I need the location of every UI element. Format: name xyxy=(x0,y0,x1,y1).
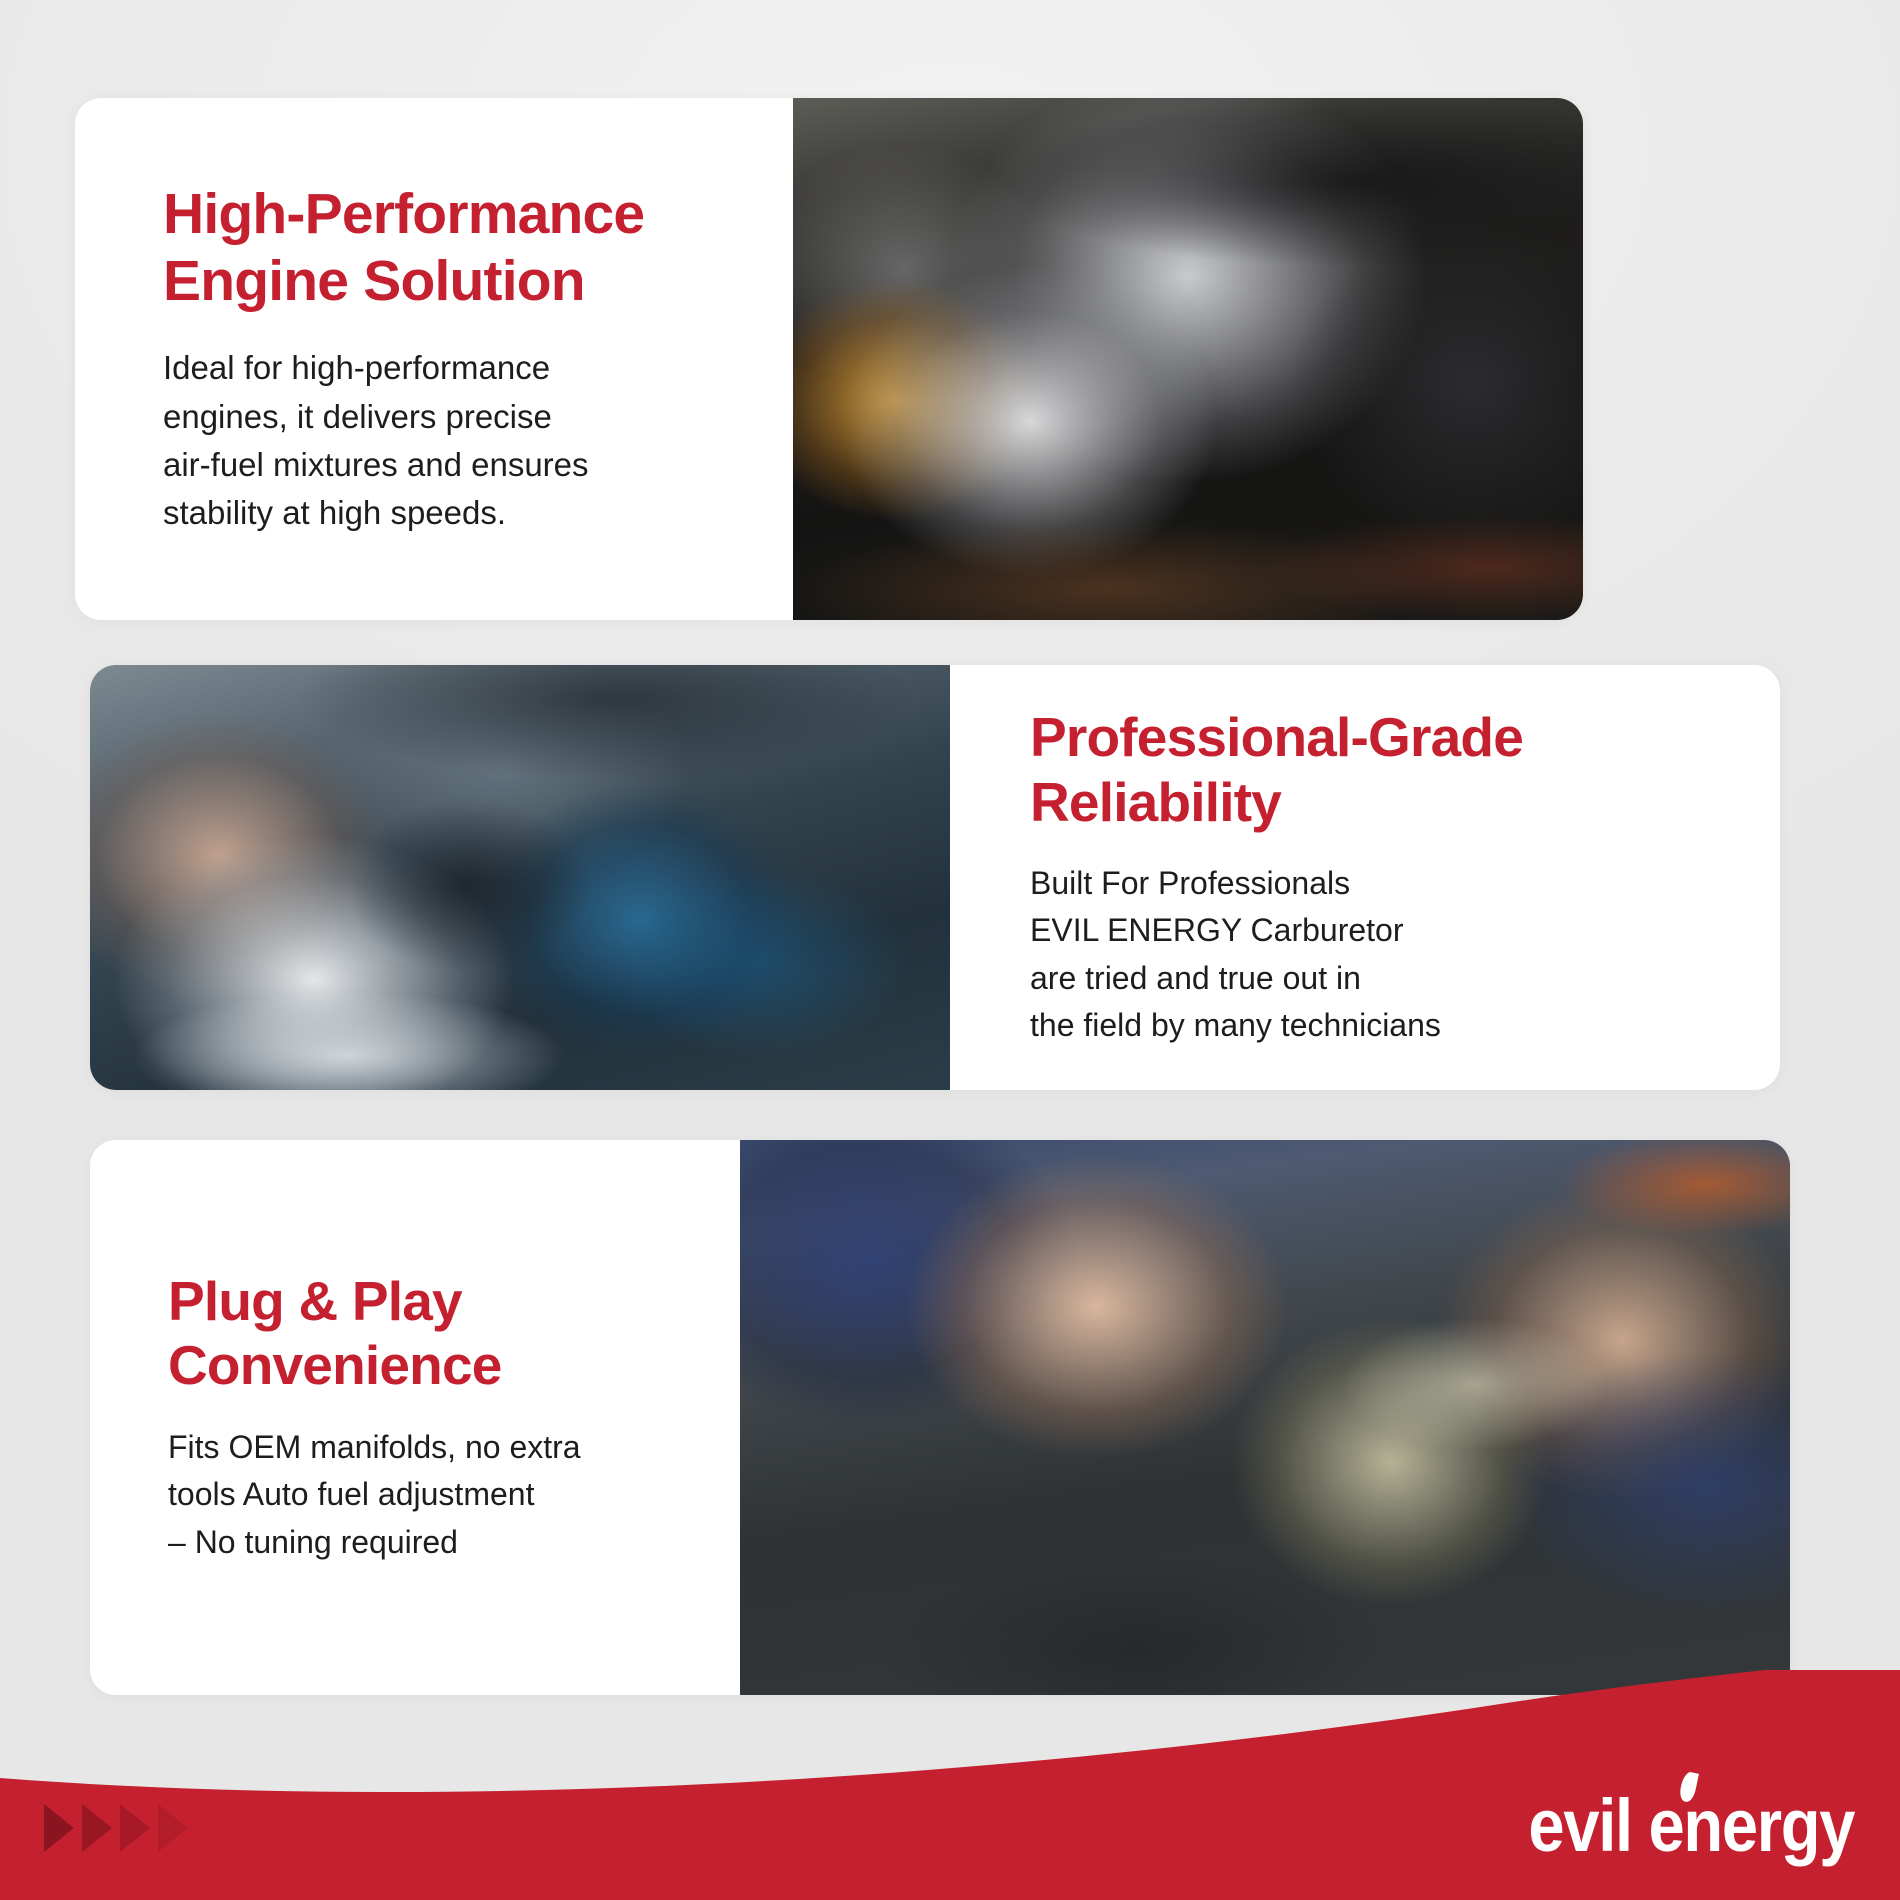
feature-card-high-performance-engine-solution: High-Performance Engine Solution Ideal f… xyxy=(75,98,1583,620)
feature-card-professional-grade-reliability: Professional-Grade Reliability Built For… xyxy=(90,665,1780,1090)
chevron-right-icon xyxy=(120,1804,150,1852)
card-image-laptop-diagnostics xyxy=(90,665,950,1090)
card-title: Plug & Play Convenience xyxy=(168,1269,700,1398)
card-body: Built For Professionals EVIL ENERGY Carb… xyxy=(1030,860,1780,1049)
photo-engine-carburetor xyxy=(793,98,1583,620)
feature-card-plug-and-play-convenience: Plug & Play Convenience Fits OEM manifol… xyxy=(90,1140,1790,1695)
footer-banner: evil energy xyxy=(0,1670,1900,1900)
infographic-stage: High-Performance Engine Solution Ideal f… xyxy=(0,0,1900,1900)
card-body: Ideal for high-performance engines, it d… xyxy=(163,344,733,537)
footer-arrow-decorations xyxy=(44,1804,188,1852)
brand-logo: evil energy xyxy=(1484,1792,1854,1860)
card-title: Professional-Grade Reliability xyxy=(1030,705,1780,834)
card-title: High-Performance Engine Solution xyxy=(163,181,733,314)
card-image-engine-carburetor xyxy=(793,98,1583,620)
photo-laptop-diagnostics xyxy=(90,665,950,1090)
card-text-block: Professional-Grade Reliability Built For… xyxy=(950,665,1780,1090)
chevron-right-icon xyxy=(158,1804,188,1852)
card-text-block: High-Performance Engine Solution Ideal f… xyxy=(75,98,793,620)
chevron-right-icon xyxy=(44,1804,74,1852)
card-image-hands-carburetor xyxy=(740,1140,1790,1695)
card-text-block: Plug & Play Convenience Fits OEM manifol… xyxy=(90,1140,740,1695)
card-body: Fits OEM manifolds, no extra tools Auto … xyxy=(168,1424,700,1566)
photo-hands-carburetor xyxy=(740,1140,1790,1695)
brand-logo-text: evil energy xyxy=(1528,1792,1854,1860)
chevron-right-icon xyxy=(82,1804,112,1852)
